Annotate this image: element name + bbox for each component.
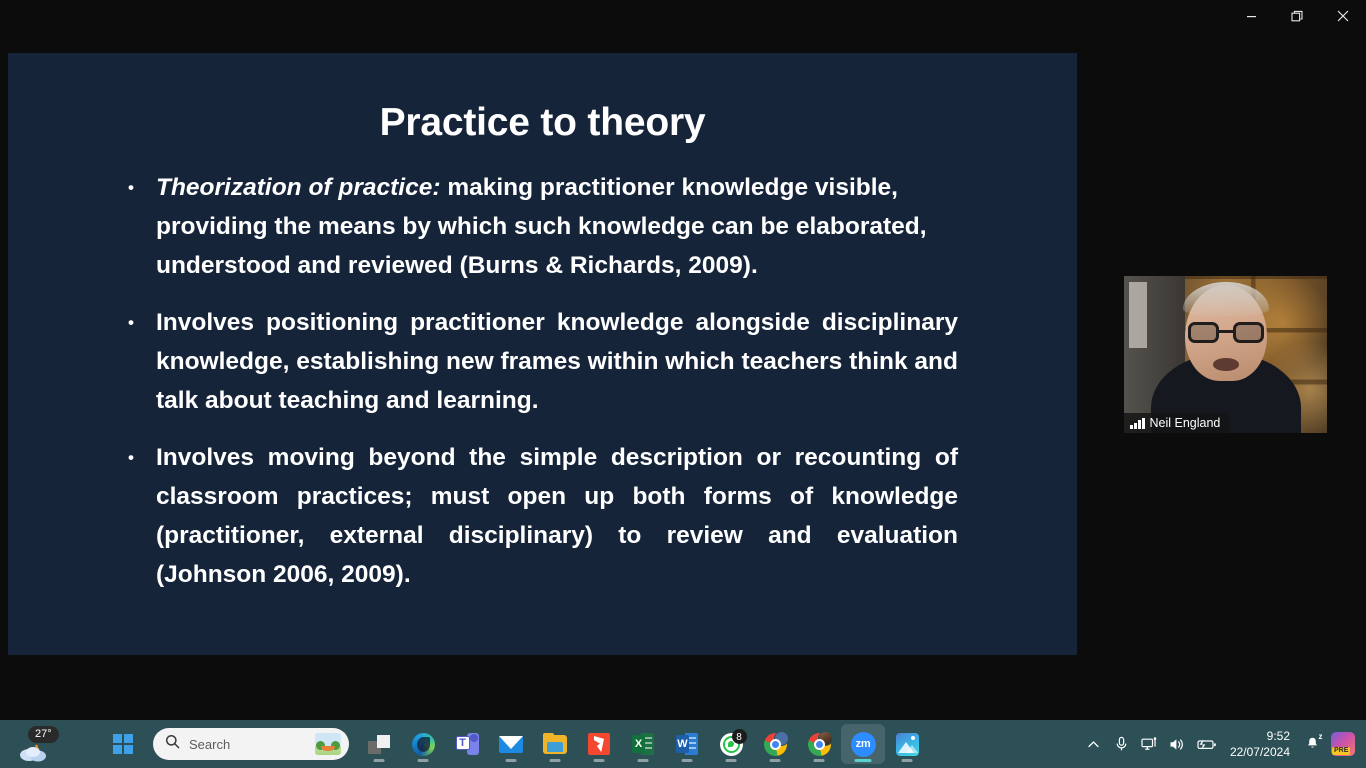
cloud-icon bbox=[18, 740, 52, 767]
bullet-text: Involves positioning practitioner knowle… bbox=[156, 303, 958, 420]
search-placeholder: Search bbox=[189, 737, 315, 752]
taskbar-app-chrome-profile-2[interactable] bbox=[797, 724, 841, 764]
start-button[interactable] bbox=[101, 724, 145, 764]
weather-widget[interactable]: 27° bbox=[12, 726, 76, 764]
taskbar-center-cluster: Search T bbox=[101, 720, 929, 768]
photos-icon bbox=[896, 733, 919, 756]
search-input[interactable]: Search bbox=[153, 728, 349, 760]
bullet-item: • Involves moving beyond the simple desc… bbox=[128, 438, 958, 594]
chrome-profile-avatar bbox=[818, 731, 833, 746]
volume-button[interactable] bbox=[1164, 724, 1192, 764]
bullet-text: Involves moving beyond the simple descri… bbox=[156, 438, 958, 594]
network-button[interactable] bbox=[1136, 724, 1164, 764]
search-icon bbox=[165, 734, 180, 754]
bullet-lead-text: Theorization of practice: bbox=[156, 174, 441, 201]
window-titlebar bbox=[0, 0, 1366, 44]
windows-taskbar: 27° Search bbox=[0, 720, 1366, 768]
taskbar-app-word[interactable]: W bbox=[665, 724, 709, 764]
excel-icon-letter: X bbox=[632, 735, 645, 753]
show-hidden-icons-button[interactable] bbox=[1080, 724, 1108, 764]
microphone-icon bbox=[1114, 736, 1129, 752]
bullet-marker: • bbox=[128, 438, 156, 477]
slide-bullet-list: • Theorization of practice: making pract… bbox=[128, 168, 958, 612]
copilot-button[interactable]: PRE bbox=[1326, 724, 1360, 764]
taskbar-app-whatsapp[interactable]: 8 bbox=[709, 724, 753, 764]
battery-button[interactable] bbox=[1192, 724, 1222, 764]
network-icon bbox=[1141, 737, 1158, 752]
bullet-marker: • bbox=[128, 168, 156, 207]
speaker-icon bbox=[1169, 737, 1186, 752]
taskbar-app-photos[interactable] bbox=[885, 724, 929, 764]
notifications-button[interactable]: z bbox=[1298, 724, 1326, 764]
teams-icon: T bbox=[456, 733, 479, 755]
participant-mouth bbox=[1213, 358, 1239, 371]
excel-icon: X bbox=[632, 733, 654, 755]
zoom-icon: zm bbox=[851, 732, 876, 757]
close-button[interactable] bbox=[1320, 0, 1366, 32]
taskbar-app-excel[interactable]: X bbox=[621, 724, 665, 764]
audio-signal-bars-icon bbox=[1130, 418, 1145, 429]
word-icon: W bbox=[676, 733, 698, 755]
minimize-button[interactable] bbox=[1228, 0, 1274, 32]
hammock-trees-icon bbox=[315, 733, 341, 755]
taskbar-app-task-view[interactable] bbox=[357, 724, 401, 764]
taskbar-app-zoom[interactable]: zm bbox=[841, 724, 885, 764]
system-tray: 9:52 22/07/2024 z PRE bbox=[1080, 720, 1366, 768]
copilot-preview-badge: PRE bbox=[1332, 747, 1350, 755]
taskbar-app-edge[interactable] bbox=[401, 724, 445, 764]
taskbar-app-teams[interactable]: T bbox=[445, 724, 489, 764]
slide-title: Practice to theory bbox=[8, 101, 1077, 145]
taskbar-app-file-explorer[interactable] bbox=[533, 724, 577, 764]
clock-date: 22/07/2024 bbox=[1230, 744, 1290, 760]
bell-sleep-icon: z bbox=[1305, 734, 1320, 754]
chevron-up-icon bbox=[1087, 738, 1100, 751]
bullet-marker: • bbox=[128, 303, 156, 342]
bullet-item: • Theorization of practice: making pract… bbox=[128, 168, 958, 285]
chrome-profile-badge-icon bbox=[774, 731, 789, 746]
taskbar-app-norton[interactable] bbox=[577, 724, 621, 764]
presentation-window: Practice to theory • Theorization of pra… bbox=[0, 0, 1366, 720]
task-view-icon bbox=[368, 735, 390, 754]
participant-name: Neil England bbox=[1150, 416, 1221, 430]
video-participant-tile[interactable]: Neil England bbox=[1124, 276, 1327, 433]
chrome-icon bbox=[808, 733, 831, 756]
battery-icon bbox=[1197, 738, 1217, 751]
whatsapp-unread-badge: 8 bbox=[732, 729, 747, 744]
windows-start-icon bbox=[113, 734, 134, 755]
edge-icon bbox=[412, 733, 435, 756]
copilot-icon: PRE bbox=[1331, 732, 1355, 756]
word-icon-letter: W bbox=[676, 735, 689, 753]
chrome-icon bbox=[764, 733, 787, 756]
clock-time: 9:52 bbox=[1267, 728, 1290, 744]
taskbar-app-mail[interactable] bbox=[489, 724, 533, 764]
mail-icon bbox=[499, 736, 523, 753]
participant-name-badge: Neil England bbox=[1124, 413, 1229, 433]
glasses-icon bbox=[1188, 322, 1264, 343]
clock-widget[interactable]: 9:52 22/07/2024 bbox=[1222, 724, 1298, 764]
sleep-indicator: z bbox=[1319, 732, 1323, 741]
bullet-item: • Involves positioning practitioner know… bbox=[128, 303, 958, 420]
teams-icon-letter: T bbox=[456, 736, 470, 750]
microphone-button[interactable] bbox=[1108, 724, 1136, 764]
restore-button[interactable] bbox=[1274, 0, 1320, 32]
whatsapp-icon: 8 bbox=[720, 733, 743, 756]
folder-icon bbox=[543, 735, 567, 754]
norton-icon bbox=[588, 733, 610, 755]
taskbar-app-chrome-profile-1[interactable] bbox=[753, 724, 797, 764]
presentation-slide: Practice to theory • Theorization of pra… bbox=[8, 53, 1077, 655]
bullet-text: Theorization of practice: making practit… bbox=[156, 168, 958, 285]
